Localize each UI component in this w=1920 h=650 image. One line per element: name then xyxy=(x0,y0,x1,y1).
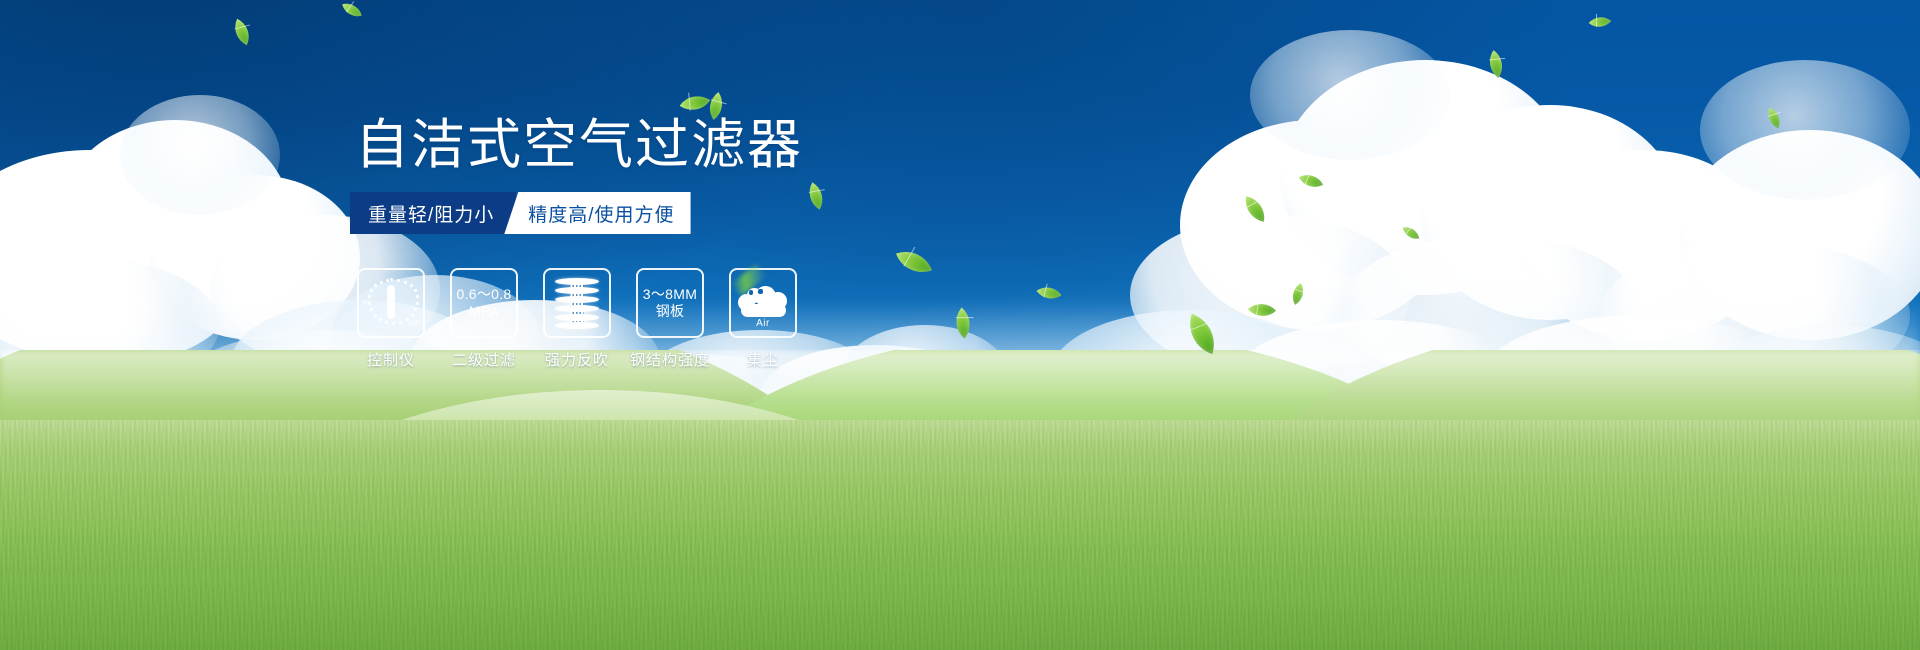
feature-label: 控制仪 xyxy=(367,349,415,370)
air-cloud-icon: Air xyxy=(736,280,790,326)
feature-label: 强力反吹 xyxy=(545,349,609,370)
tag-list: 重量轻/阻力小 精度高/使用方便 xyxy=(350,192,691,234)
steel-thickness-text: 3～8MM xyxy=(643,286,697,303)
pressure-unit-text: MPA xyxy=(456,303,511,320)
feature-icon-box xyxy=(543,268,611,338)
filter-stack-icon xyxy=(555,278,599,328)
feature-icon-box: Air xyxy=(729,268,797,338)
hero-banner: 自洁式空气过滤器 重量轻/阻力小 精度高/使用方便 xyxy=(0,0,1920,650)
feature-label: 集尘 xyxy=(747,349,779,370)
dial-label-off: OFF xyxy=(408,321,419,327)
dial-gauge-icon: NO OFF xyxy=(364,276,418,330)
feature-label: 二级过滤 xyxy=(452,349,516,370)
pressure-range-text: 0.6～0.8 xyxy=(456,286,511,303)
tag-badge-secondary: 精度高/使用方便 xyxy=(504,192,690,234)
feature-item: Air 集尘 xyxy=(729,268,797,370)
feature-icon-box: 3～8MM 钢板 xyxy=(636,268,704,338)
air-text: Air xyxy=(756,318,770,329)
feature-icon-box: 0.6～0.8 MPA xyxy=(450,268,518,338)
feature-item: 0.6～0.8 MPA 二级过滤 xyxy=(450,268,518,370)
dial-label-no: NO xyxy=(362,300,370,306)
banner-content: 自洁式空气过滤器 重量轻/阻力小 精度高/使用方便 xyxy=(0,0,1920,650)
feature-item: 3～8MM 钢板 钢结构强度 xyxy=(636,268,704,370)
feature-item: NO OFF 控制仪 xyxy=(357,268,425,370)
page-title: 自洁式空气过滤器 xyxy=(355,118,803,172)
feature-list: NO OFF 控制仪 0.6～0.8 MPA 二级过滤 xyxy=(357,268,797,370)
feature-item: 强力反吹 xyxy=(543,268,611,370)
feature-icon-box: NO OFF xyxy=(357,268,425,338)
steel-material-text: 钢板 xyxy=(643,303,697,320)
tag-badge-primary: 重量轻/阻力小 xyxy=(350,192,516,234)
feature-label: 钢结构强度 xyxy=(630,349,710,370)
